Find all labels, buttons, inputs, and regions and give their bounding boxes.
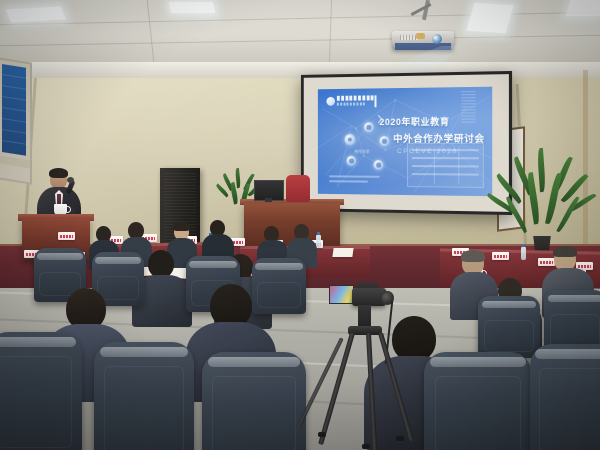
tripod-head <box>358 305 371 327</box>
slide-footer-line1 <box>329 175 379 177</box>
water-bottle <box>521 247 526 260</box>
slide-node-icon <box>374 160 384 170</box>
slide-title-line1: 2020年职业教育 <box>375 114 492 128</box>
auditorium-seat <box>478 296 540 358</box>
camera-flip-screen <box>329 285 354 304</box>
logo-wordmark <box>337 95 374 100</box>
tripod-foot <box>362 444 370 449</box>
logo-subwordmark <box>337 102 366 105</box>
microphone-head-icon <box>67 177 74 183</box>
ceiling-light-panel <box>466 3 513 34</box>
auditorium-seat <box>530 344 600 450</box>
auditorium-seat <box>0 332 82 450</box>
handout-paper <box>332 248 353 257</box>
projector-label-strip <box>395 43 451 50</box>
auditorium-seat <box>252 258 306 314</box>
projector-lens-icon <box>432 34 442 44</box>
ceiling-light-panel <box>169 2 215 13</box>
water-bottle <box>316 235 321 248</box>
name-placard <box>492 252 509 260</box>
slide-info-panel <box>407 143 484 188</box>
logo-divider <box>375 95 377 107</box>
tripod-foot <box>396 436 404 441</box>
window-with-blue-blind <box>0 57 32 184</box>
projector-indicator-icon <box>416 33 425 39</box>
auditorium-seat <box>94 342 194 450</box>
slide-node-icon <box>346 156 356 166</box>
window-blind <box>2 64 26 156</box>
name-placard <box>58 232 75 240</box>
slide-footer <box>329 175 379 185</box>
conference-room-photo: 合作办学 2020年职业教育 中外合作办学研讨会 CPCEVE 2020 <box>0 0 600 450</box>
speaker-hair <box>49 168 68 178</box>
auditorium-seat <box>202 352 306 450</box>
slide-node-icon <box>364 122 374 132</box>
slide-footer-line2 <box>329 180 367 182</box>
auditorium-seat <box>424 352 532 450</box>
presentation-slide: 合作办学 2020年职业教育 中外合作办学研讨会 CPCEVE 2020 <box>318 87 492 197</box>
monitor-stand <box>265 198 272 202</box>
window-sill <box>0 156 30 169</box>
name-placard <box>538 258 555 266</box>
logo-emblem-icon <box>326 97 335 106</box>
tripod-foot <box>318 432 326 437</box>
red-office-chair <box>286 175 310 202</box>
ceiling-light-panel <box>565 0 600 16</box>
slide-logo <box>326 95 376 108</box>
slide-node-icon <box>345 134 356 145</box>
projection-screen: 合作办学 2020年职业教育 中外合作办学研讨会 CPCEVE 2020 <box>301 71 512 215</box>
slide-node-label: 合作办学 <box>354 149 369 155</box>
wall-corner <box>583 70 588 260</box>
